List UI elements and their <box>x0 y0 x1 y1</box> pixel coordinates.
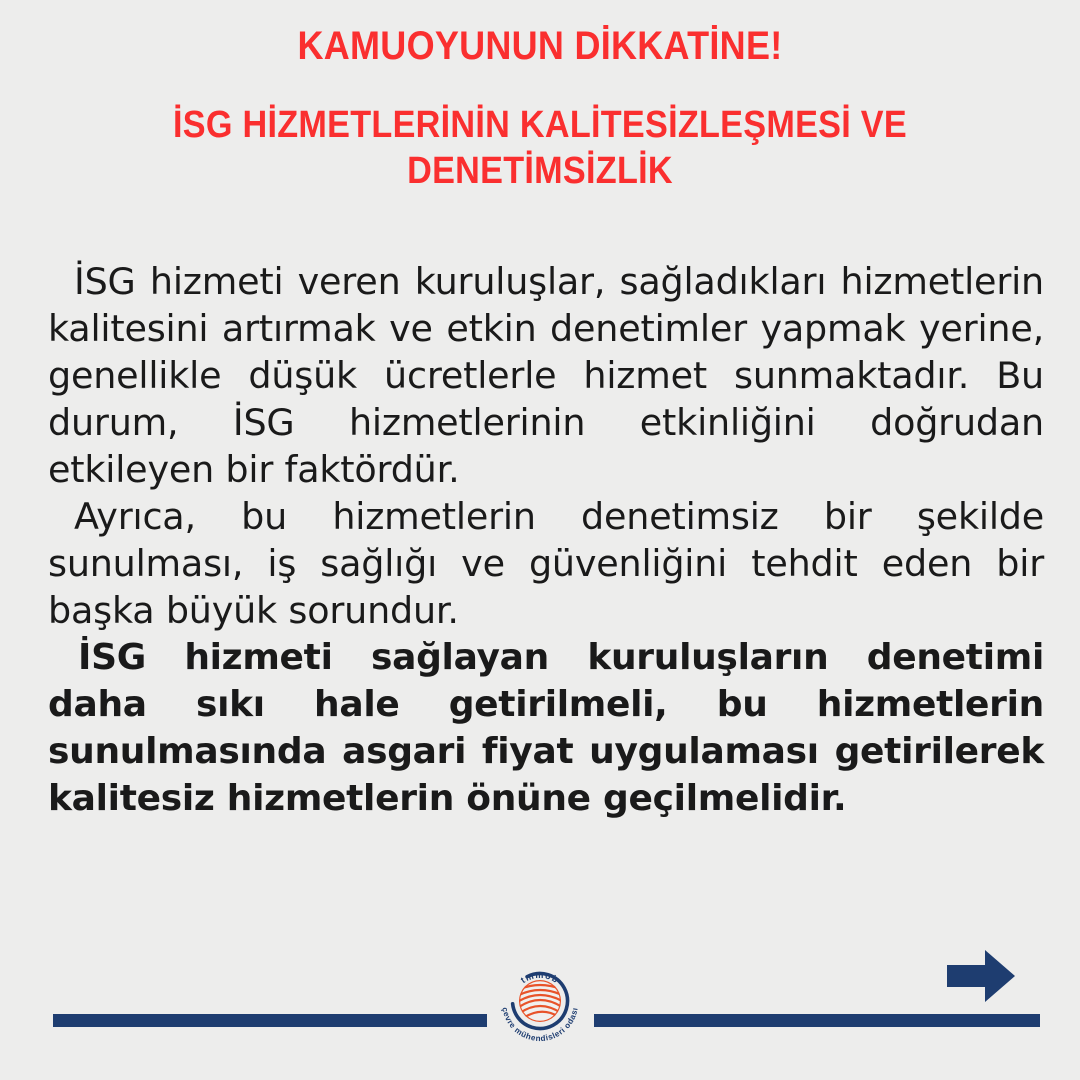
paragraph-secondary: Ayrıca, bu hizmetlerin denetimsiz bir şe… <box>48 493 1044 634</box>
footer-rule-right <box>594 1014 1040 1027</box>
heading-block: KAMUOYUNUN DİKKATİNE! İSG HİZMETLERİNİN … <box>0 0 1080 194</box>
page-subtitle: İSG HİZMETLERİNİN KALİTESİZLEŞMESİ VE DE… <box>54 102 1026 194</box>
footer-rule-left <box>53 1014 487 1027</box>
page-title: KAMUOYUNUN DİKKATİNE! <box>54 22 1026 70</box>
body-copy: İSG hizmeti veren kuruluşlar, sağladıkla… <box>48 258 1044 822</box>
paragraph-intro: İSG hizmeti veren kuruluşlar, sağladıkla… <box>48 258 1044 493</box>
paragraph-demand: İSG hizmeti sağlayan kuruluşların deneti… <box>48 634 1044 822</box>
footer: tmmob çevre mühendisleri odası <box>0 950 1080 1080</box>
poster-canvas: KAMUOYUNUN DİKKATİNE! İSG HİZMETLERİNİN … <box>0 0 1080 1080</box>
tmmob-cevre-muhendisleri-odasi-logo: tmmob çevre mühendisleri odası <box>490 951 590 1051</box>
